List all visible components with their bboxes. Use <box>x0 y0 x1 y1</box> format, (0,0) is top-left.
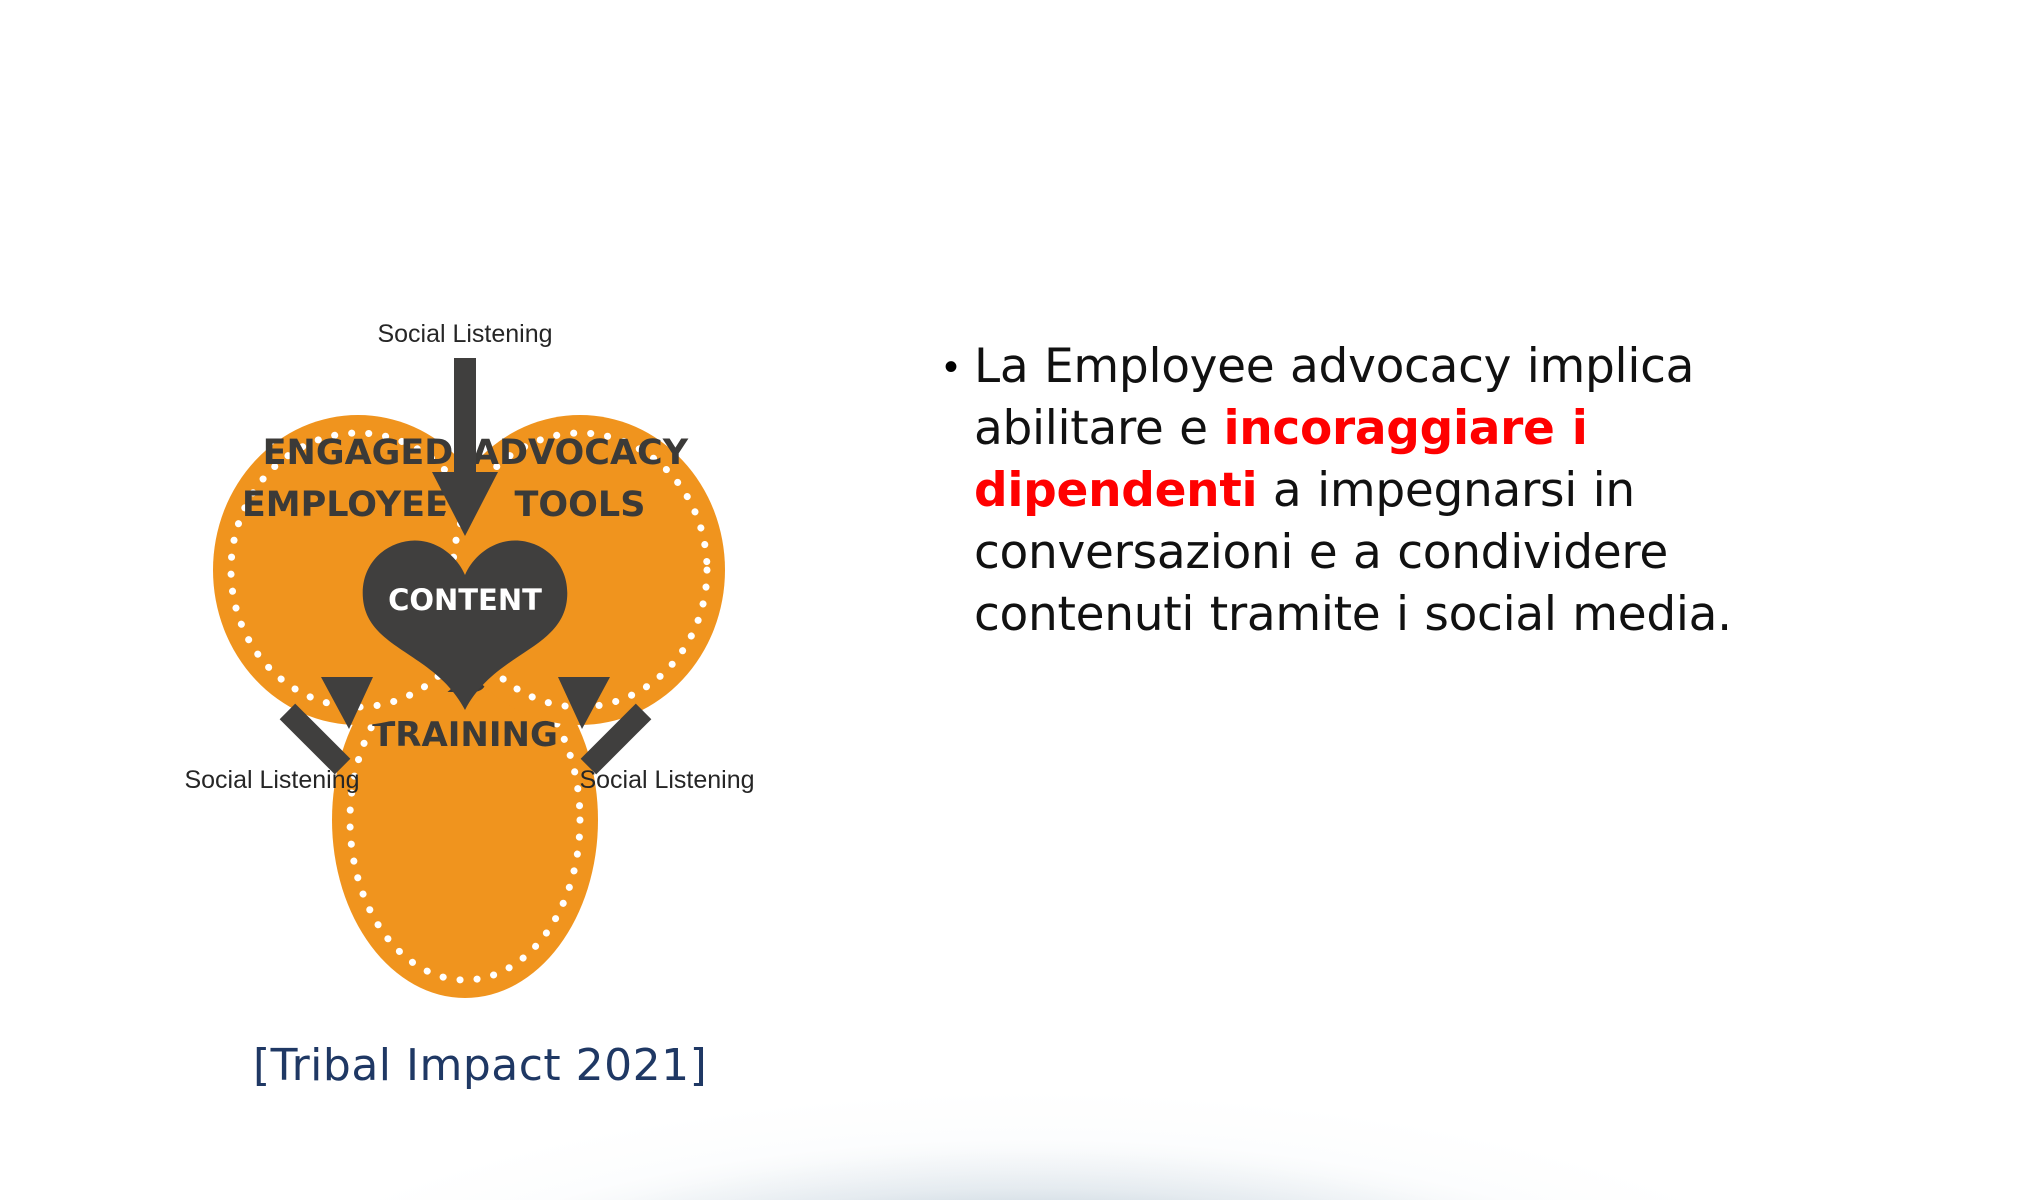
heart-content-label: CONTENT <box>388 583 542 617</box>
employee-advocacy-diagram: .orangefill{fill:#F0941E;} .dotring{fill… <box>180 320 940 1020</box>
bullet-glyph: • <box>930 336 974 398</box>
bullet-row: • La Employee advocacy implica abilitare… <box>930 336 1860 646</box>
decorative-blue-arc-overlay <box>120 1000 1940 1200</box>
slide-canvas: .orangefill{fill:#F0941E;} .dotring{fill… <box>0 0 2040 1200</box>
svg-text:ADVOCACY: ADVOCACY <box>472 433 689 473</box>
bullet-paragraph: La Employee advocacy implica abilitare e… <box>974 336 1860 646</box>
bullet-block: • La Employee advocacy implica abilitare… <box>930 336 1860 646</box>
svg-text:ENGAGED: ENGAGED <box>263 433 454 473</box>
annotation-social-listening-top: Social Listening <box>377 320 552 348</box>
svg-text:EMPLOYEES: EMPLOYEES <box>242 485 474 525</box>
citation-label: [Tribal Impact 2021] <box>253 1040 707 1091</box>
annotation-social-listening-right: Social Listening <box>579 766 754 794</box>
svg-text:TRAINING: TRAINING <box>372 715 558 755</box>
svg-text:TOOLS: TOOLS <box>515 485 646 525</box>
annotation-social-listening-left: Social Listening <box>184 766 359 794</box>
